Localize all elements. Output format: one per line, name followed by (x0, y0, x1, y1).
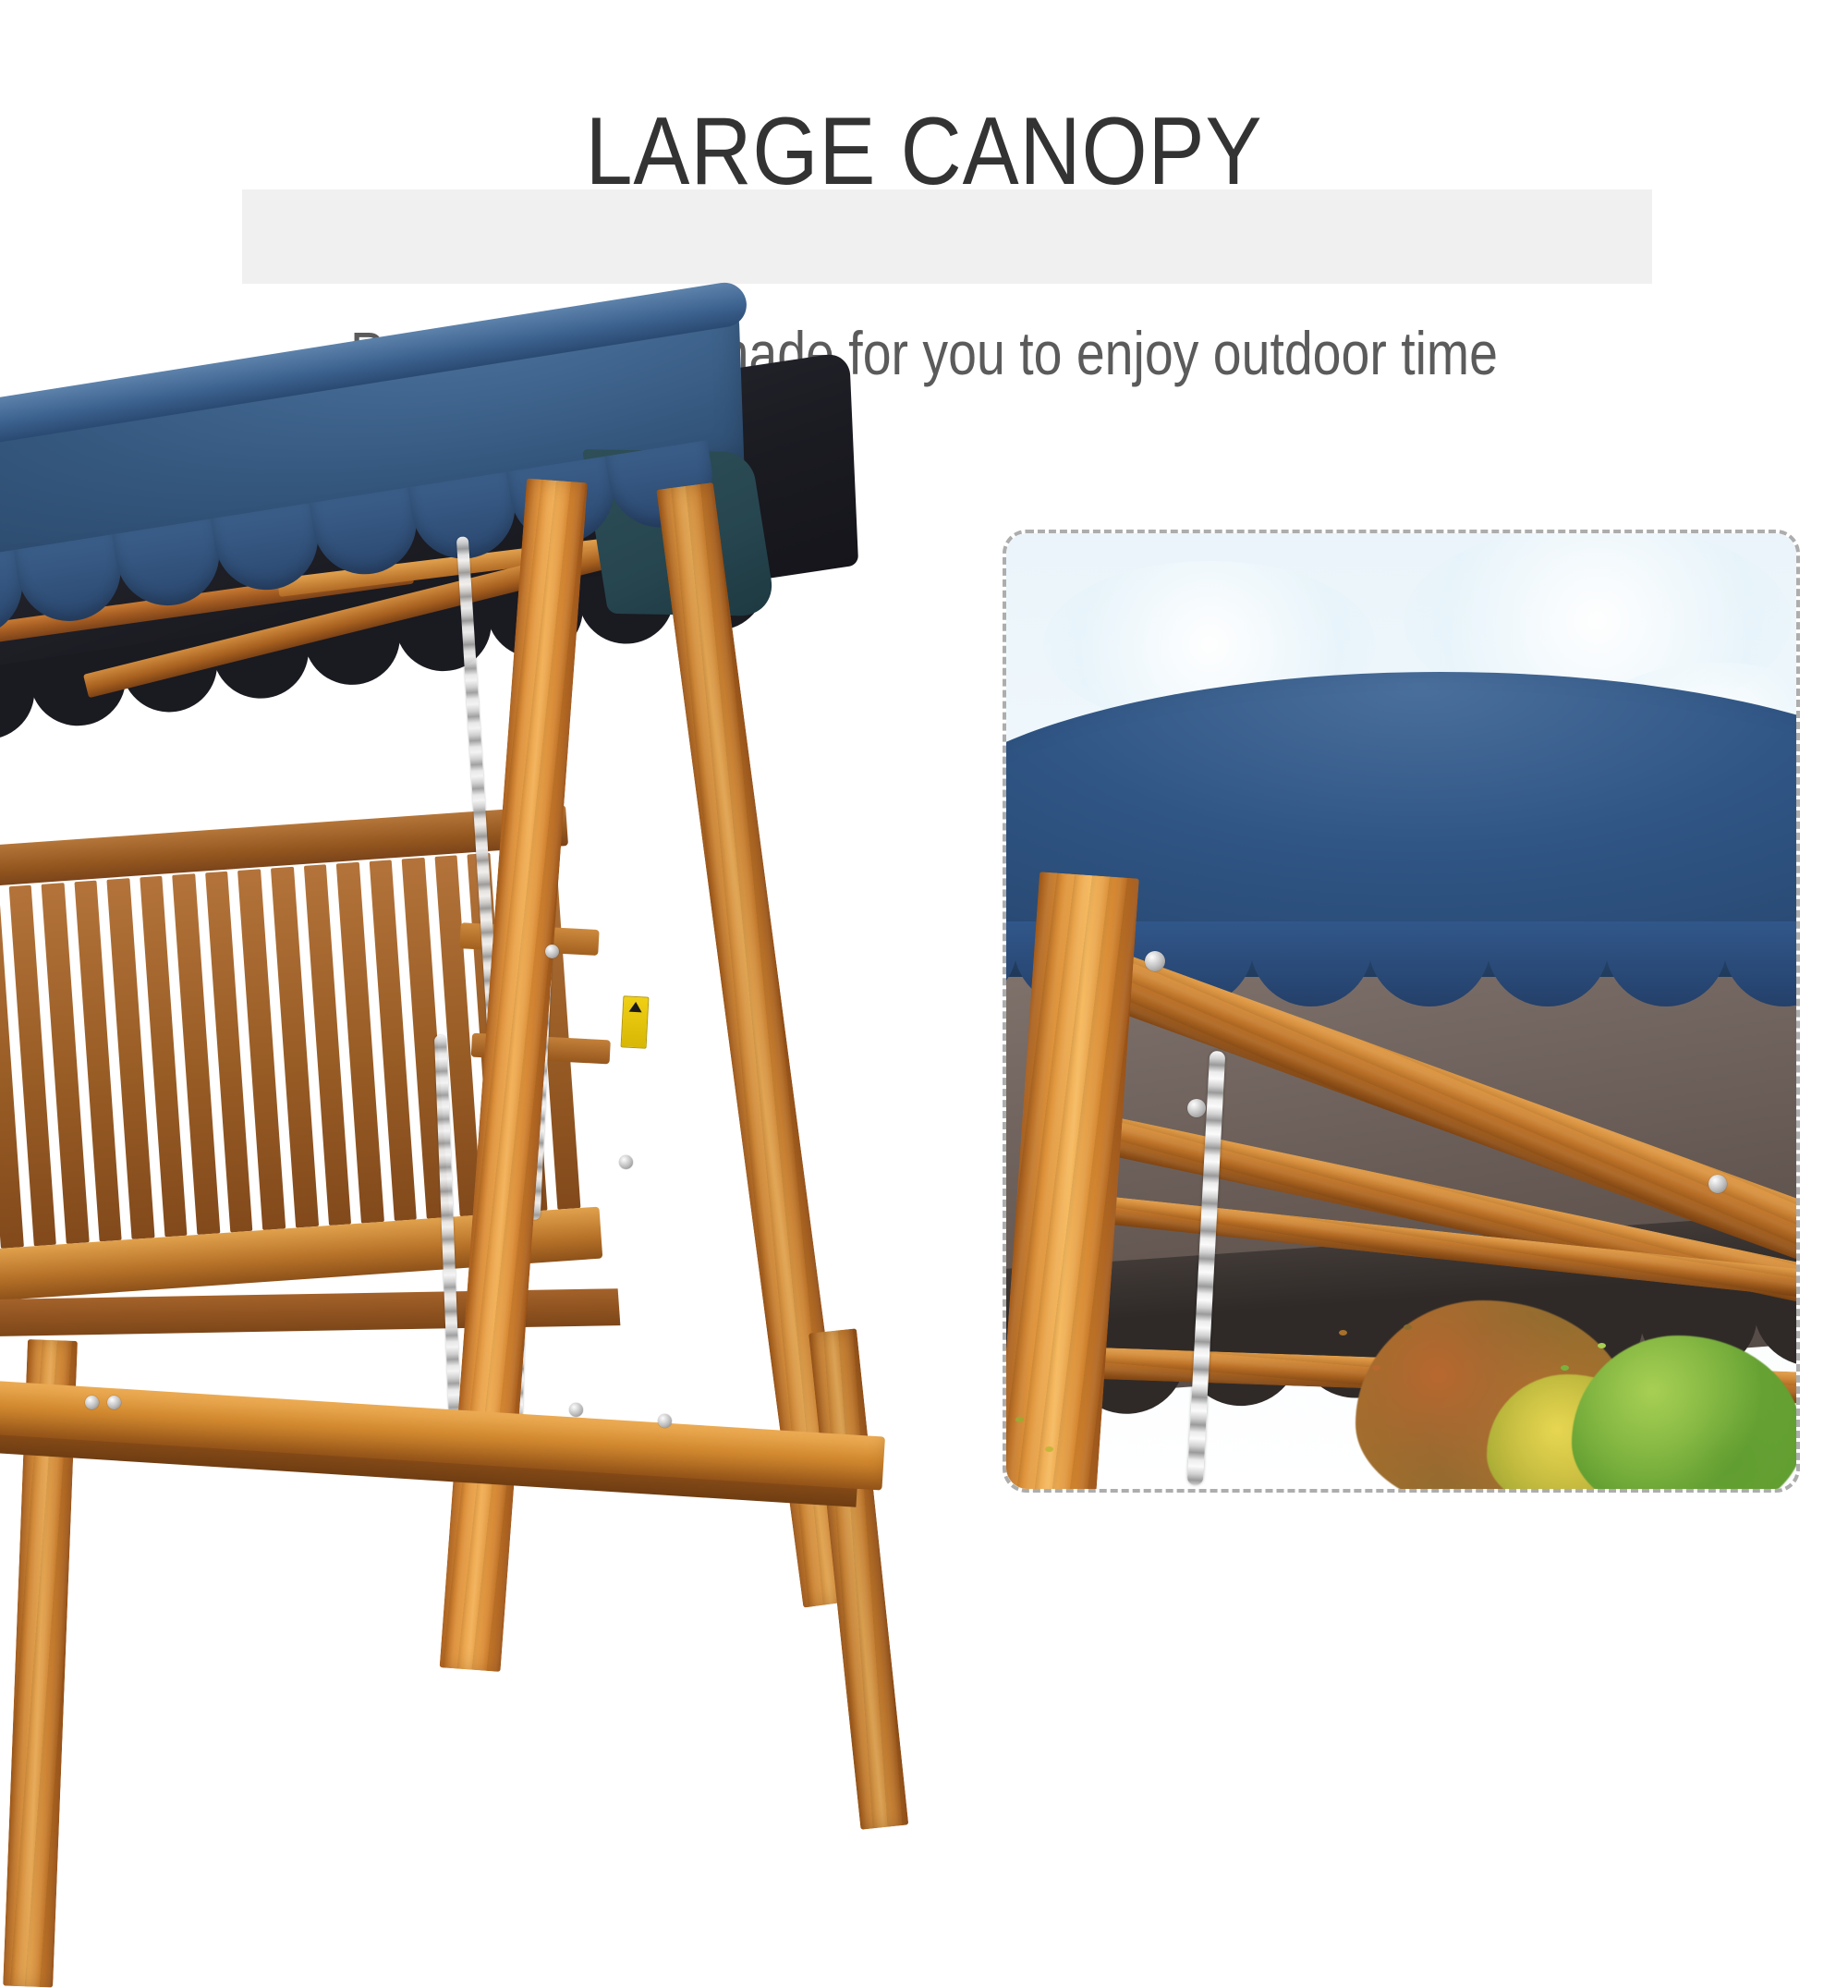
foliage-speck (1339, 1330, 1347, 1335)
foliage-speck (1598, 1343, 1606, 1348)
main-product-photo (0, 397, 961, 1719)
bolt-hardware (658, 1414, 672, 1428)
foliage-speck (1015, 1417, 1024, 1422)
bolt-hardware (545, 945, 559, 958)
bolt-hardware (1145, 951, 1165, 971)
bolt-hardware (569, 1403, 583, 1417)
bolt-hardware (1187, 1099, 1206, 1117)
foliage-speck (1045, 1446, 1053, 1452)
inset-product-photo (1006, 533, 1796, 1489)
page-title: LARGE CANOPY (111, 96, 1737, 207)
bolt-hardware (1708, 1175, 1727, 1193)
foliage-speck (1404, 1324, 1412, 1330)
bolt-hardware (619, 1155, 633, 1169)
bolt-hardware (85, 1396, 99, 1409)
photo-stage (0, 397, 1848, 1848)
inset-photo-frame (1003, 530, 1800, 1493)
foliage-speck (1372, 1365, 1380, 1371)
bolt-hardware (107, 1396, 121, 1409)
marketing-image-canvas: LARGE CANOPY Provides more shade for you… (0, 0, 1848, 1848)
foliage-speck (1561, 1365, 1569, 1371)
warning-label-tag (621, 995, 650, 1048)
